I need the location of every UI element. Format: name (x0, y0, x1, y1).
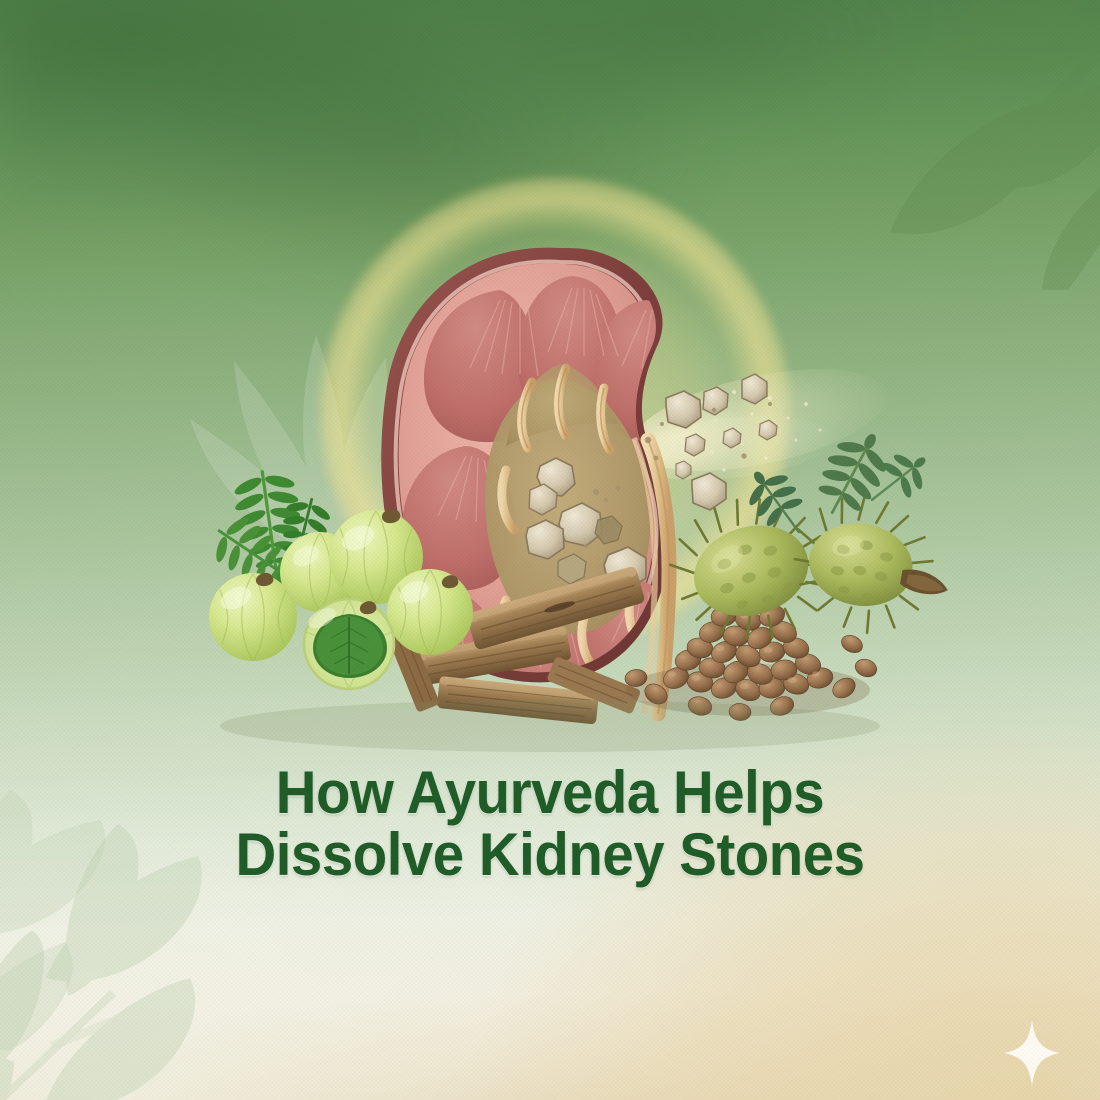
paper-texture-overlay (0, 0, 1100, 1100)
poster-canvas: How Ayurveda Helps Dissolve Kidney Stone… (0, 0, 1100, 1100)
poster-title: How Ayurveda Helps Dissolve Kidney Stone… (0, 762, 1100, 886)
title-line-1: How Ayurveda Helps (33, 762, 1067, 824)
title-line-2: Dissolve Kidney Stones (33, 824, 1067, 886)
